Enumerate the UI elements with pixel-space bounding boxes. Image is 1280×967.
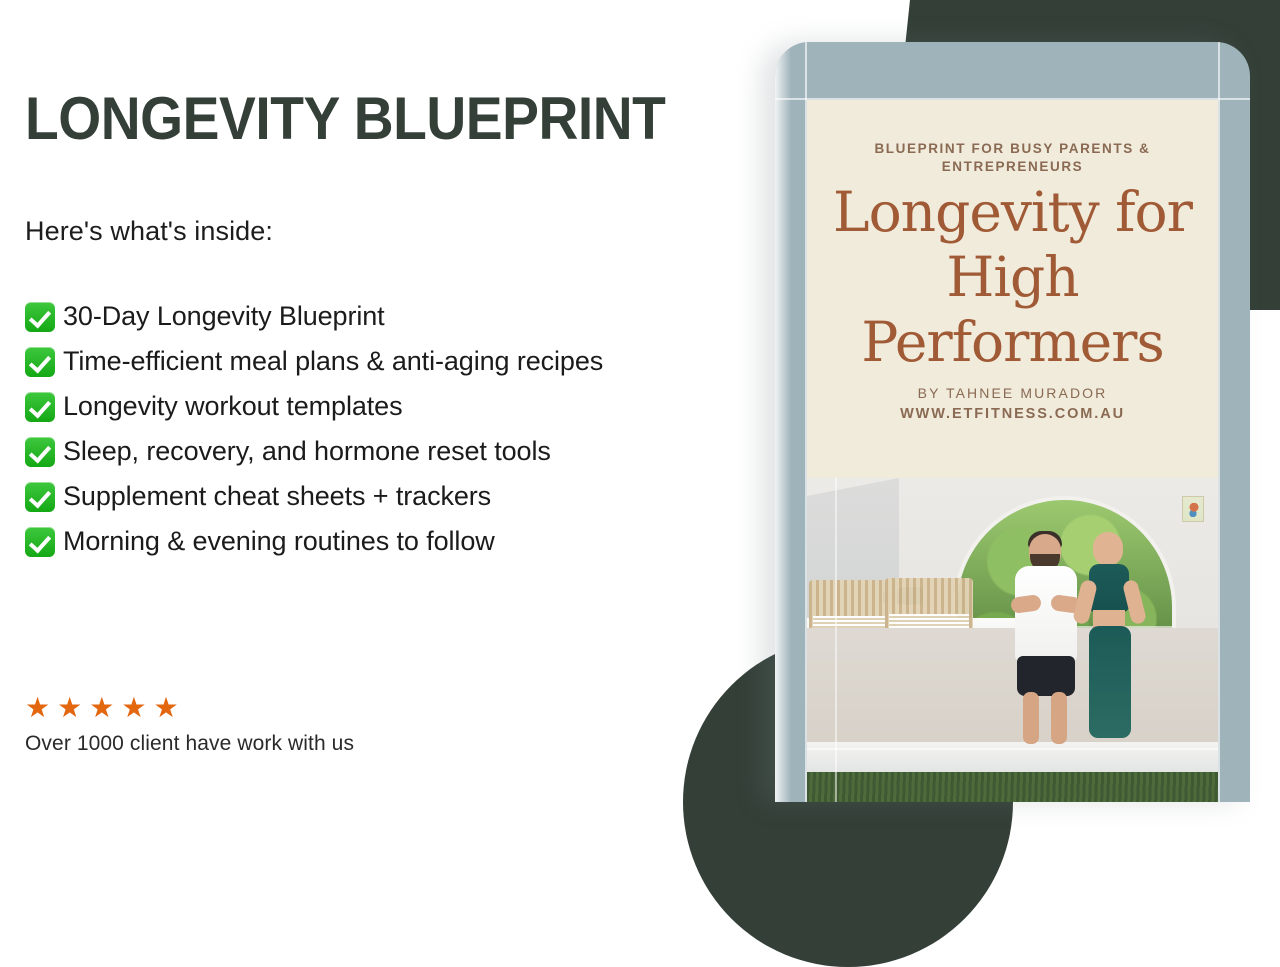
list-item-label: Time-efficient meal plans & anti-aging r…: [63, 346, 603, 377]
check-mark-button-icon: [25, 392, 55, 422]
frame-hairline-top: [775, 98, 1250, 100]
photo-hairline-vertical: [835, 478, 837, 802]
book-cover-inner: BLUEPRINT FOR BUSY PARENTS & ENTREPRENEU…: [807, 100, 1218, 802]
cover-title-line-2: High: [829, 249, 1196, 306]
page-title: LONGEVITY BLUEPRINT: [25, 88, 665, 150]
cover-title-line-3: Performers: [829, 314, 1196, 371]
check-mark-button-icon: [25, 437, 55, 467]
list-item: 30-Day Longevity Blueprint: [25, 294, 603, 339]
man-shirt: [1015, 566, 1077, 662]
list-item: Sleep, recovery, and hormone reset tools: [25, 429, 603, 474]
photo-wall-art-frame: [1182, 496, 1204, 522]
photo-person-woman: [1073, 528, 1149, 746]
feature-list: 30-Day Longevity Blueprint Time-efficien…: [25, 294, 603, 564]
photo-grass: [807, 772, 1218, 802]
photo-hairline-horizontal: [807, 748, 1218, 750]
list-item: Morning & evening routines to follow: [25, 519, 603, 564]
star-icon: ★: [25, 694, 50, 722]
list-item-label: Longevity workout templates: [63, 391, 402, 422]
frame-hairline-right: [1218, 42, 1220, 802]
intro-text: Here's what's inside:: [25, 216, 273, 247]
cover-kicker: BLUEPRINT FOR BUSY PARENTS & ENTREPRENEU…: [829, 140, 1196, 176]
list-item: Supplement cheat sheets + trackers: [25, 474, 603, 519]
cover-photo: [807, 478, 1218, 802]
woman-head: [1093, 532, 1123, 566]
star-icon: ★: [57, 694, 82, 722]
check-mark-button-icon: [25, 527, 55, 557]
list-item: Longevity workout templates: [25, 384, 603, 429]
cover-website-url: WWW.ETFITNESS.COM.AU: [829, 404, 1196, 424]
photo-step: [807, 742, 1218, 774]
check-mark-button-icon: [25, 482, 55, 512]
book-cover-card: BLUEPRINT FOR BUSY PARENTS & ENTREPRENEU…: [775, 42, 1250, 802]
man-shorts: [1017, 656, 1075, 696]
star-rating: ★ ★ ★ ★ ★: [25, 694, 354, 722]
woman-leggings: [1089, 626, 1131, 738]
cover-title-line-1: Longevity for: [829, 184, 1196, 241]
star-icon: ★: [89, 694, 114, 722]
book-cover-text-block: BLUEPRINT FOR BUSY PARENTS & ENTREPRENEU…: [807, 100, 1218, 424]
star-icon: ★: [121, 694, 146, 722]
star-icon: ★: [153, 694, 178, 722]
social-proof-block: ★ ★ ★ ★ ★ Over 1000 client have work wit…: [25, 694, 354, 756]
man-right-leg: [1051, 692, 1067, 744]
card-spine-highlight: [775, 42, 791, 802]
list-item-label: Sleep, recovery, and hormone reset tools: [63, 436, 551, 467]
check-mark-button-icon: [25, 302, 55, 332]
cover-byline: BY TAHNEE MURADOR: [829, 382, 1196, 404]
man-left-leg: [1023, 692, 1039, 744]
list-item-label: Supplement cheat sheets + trackers: [63, 481, 491, 512]
list-item-label: 30-Day Longevity Blueprint: [63, 301, 385, 332]
list-item-label: Morning & evening routines to follow: [63, 526, 495, 557]
left-content-column: LONGEVITY BLUEPRINT Here's what's inside…: [0, 0, 775, 800]
rating-caption: Over 1000 client have work with us: [25, 732, 354, 756]
frame-hairline-left: [805, 42, 807, 802]
check-mark-button-icon: [25, 347, 55, 377]
list-item: Time-efficient meal plans & anti-aging r…: [25, 339, 603, 384]
